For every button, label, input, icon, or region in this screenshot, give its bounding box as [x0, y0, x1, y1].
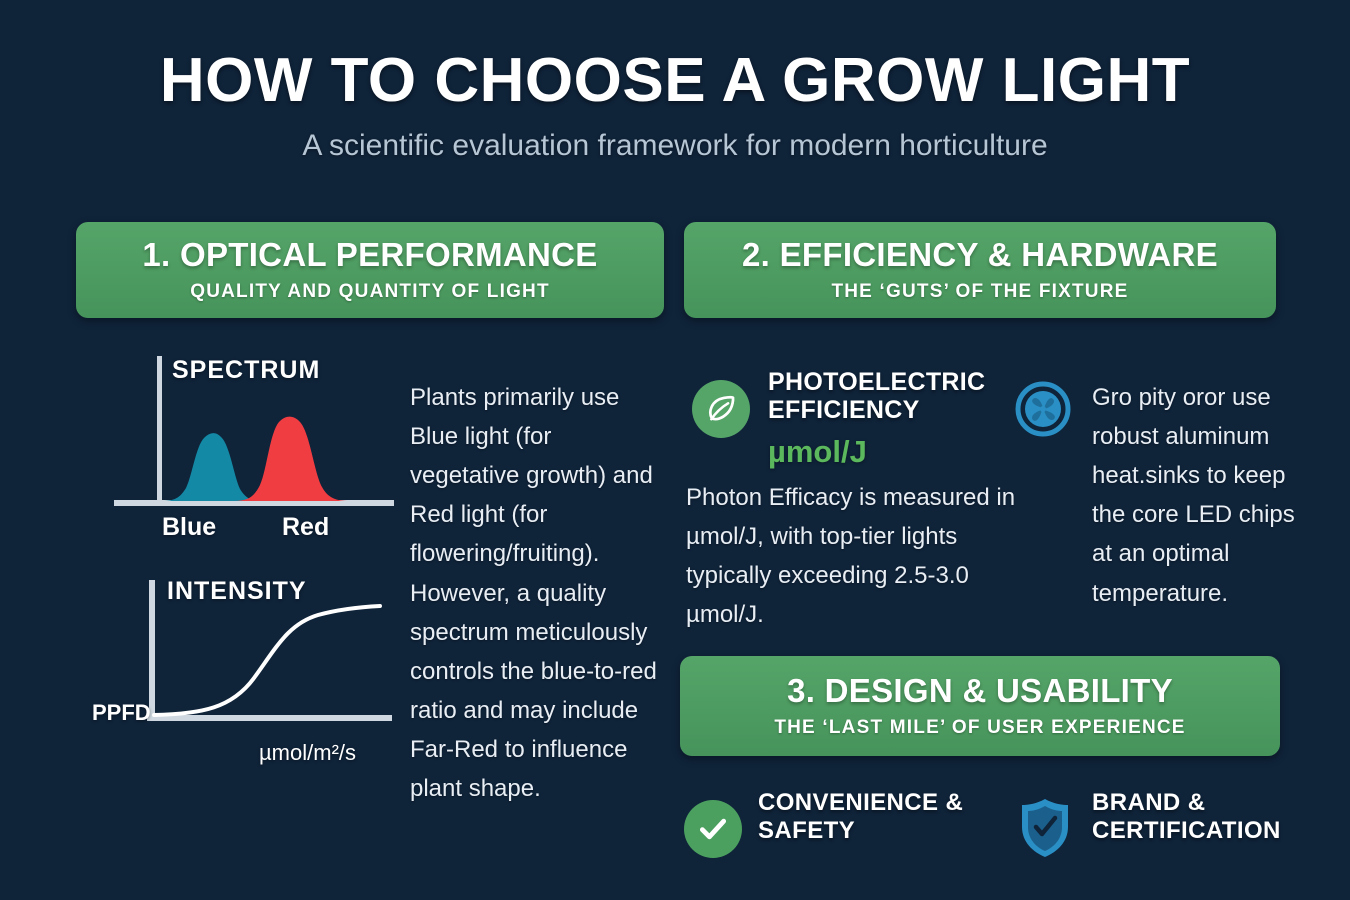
intensity-y-axis-label: PPFD	[92, 700, 151, 726]
check-glyph	[696, 812, 730, 846]
section-banner-optical-performance: 1. OPTICAL PERFORMANCE QUALITY AND QUANT…	[76, 222, 664, 318]
page-subtitle: A scientific evaluation framework for mo…	[0, 129, 1350, 163]
photon-efficacy-paragraph: Photon Efficacy is measured in µmol/J, w…	[686, 478, 1016, 634]
legend-blue: Blue	[162, 513, 216, 542]
spectrum-blue-curve	[162, 433, 262, 501]
fan-icon	[1014, 380, 1072, 438]
shield-glyph	[1018, 797, 1072, 859]
shield-check-icon	[1018, 797, 1072, 859]
intensity-sigmoid-curve	[154, 606, 380, 715]
intensity-chart-title: INTENSITY	[167, 577, 307, 606]
spectrum-chart: SPECTRUM Blue Red	[104, 348, 404, 548]
convenience-safety-label: CONVENIENCE & SAFETY	[758, 789, 968, 846]
intensity-y-axis	[149, 580, 155, 720]
spectrum-chart-title: SPECTRUM	[172, 356, 320, 385]
check-circle-icon	[684, 800, 742, 858]
intensity-x-axis	[147, 715, 392, 721]
intensity-chart: INTENSITY PPFD µmol/m²/s	[92, 572, 402, 777]
banner-subtitle: THE ‘LAST MILE’ OF USER EXPERIENCE	[774, 717, 1185, 739]
header: HOW TO CHOOSE A GROW LIGHT A scientific …	[0, 48, 1350, 163]
photoelectric-efficiency-heading: PHOTOELECTRIC EFFICIENCY	[768, 368, 1018, 424]
leaf-glyph	[704, 392, 738, 426]
brand-certification-label: BRAND & CERTIFICATION	[1092, 789, 1302, 846]
banner-subtitle: QUALITY AND QUANTITY OF LIGHT	[190, 281, 550, 303]
banner-title: 1. OPTICAL PERFORMANCE	[142, 237, 597, 273]
spectrum-red-curve	[234, 417, 350, 501]
section-banner-efficiency-hardware: 2. EFFICIENCY & HARDWARE THE ‘GUTS’ OF T…	[684, 222, 1276, 318]
leaf-icon	[692, 380, 750, 438]
banner-subtitle: THE ‘GUTS’ OF THE FIXTURE	[831, 281, 1128, 303]
thermal-management-paragraph: Gro pity oror use robust aluminum heat.s…	[1092, 378, 1300, 613]
infographic-page: HOW TO CHOOSE A GROW LIGHT A scientific …	[0, 0, 1350, 900]
intensity-x-axis-label: µmol/m²/s	[259, 740, 356, 766]
banner-title: 3. DESIGN & USABILITY	[787, 673, 1173, 709]
legend-red: Red	[282, 513, 329, 542]
banner-title: 2. EFFICIENCY & HARDWARE	[742, 237, 1218, 273]
spectrum-y-axis	[157, 356, 162, 506]
fan-glyph	[1014, 380, 1072, 438]
photoelectric-efficiency-unit: µmol/J	[768, 434, 867, 470]
optical-performance-paragraph: Plants primarily use Blue light (for veg…	[410, 378, 662, 808]
page-title: HOW TO CHOOSE A GROW LIGHT	[0, 48, 1350, 113]
section-banner-design-usability: 3. DESIGN & USABILITY THE ‘LAST MILE’ OF…	[680, 656, 1280, 756]
